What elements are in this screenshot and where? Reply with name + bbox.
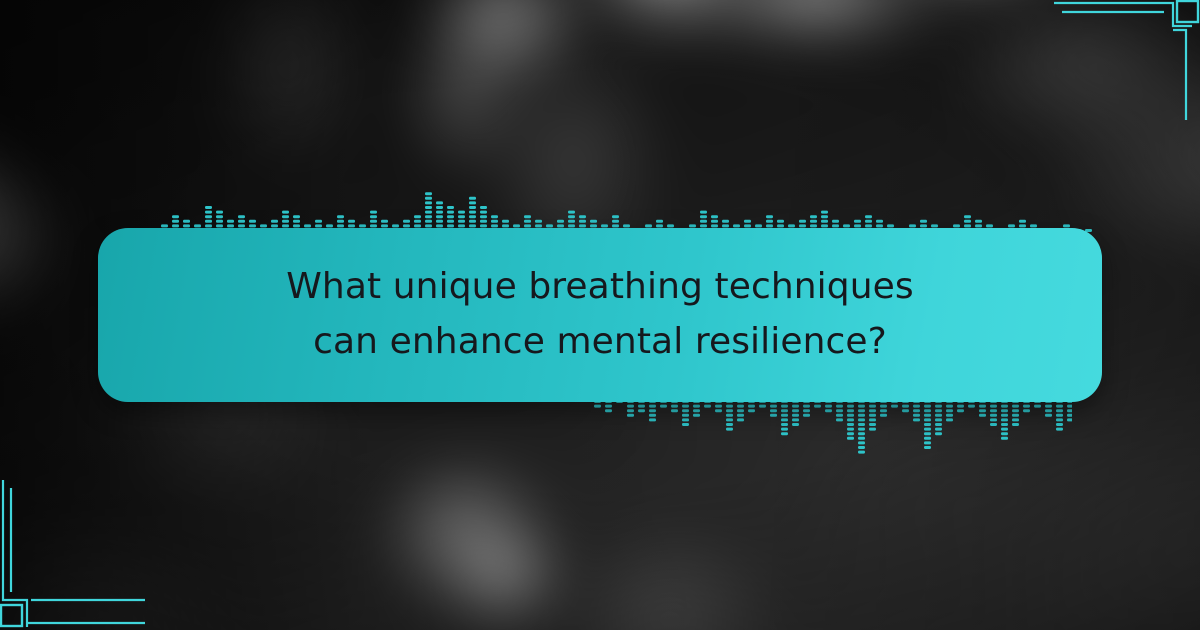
question-text: What unique breathing techniques can enh… — [250, 260, 950, 369]
promo-card-image: What unique breathing techniques can enh… — [0, 0, 1200, 630]
question-card: What unique breathing techniques can enh… — [98, 228, 1102, 402]
